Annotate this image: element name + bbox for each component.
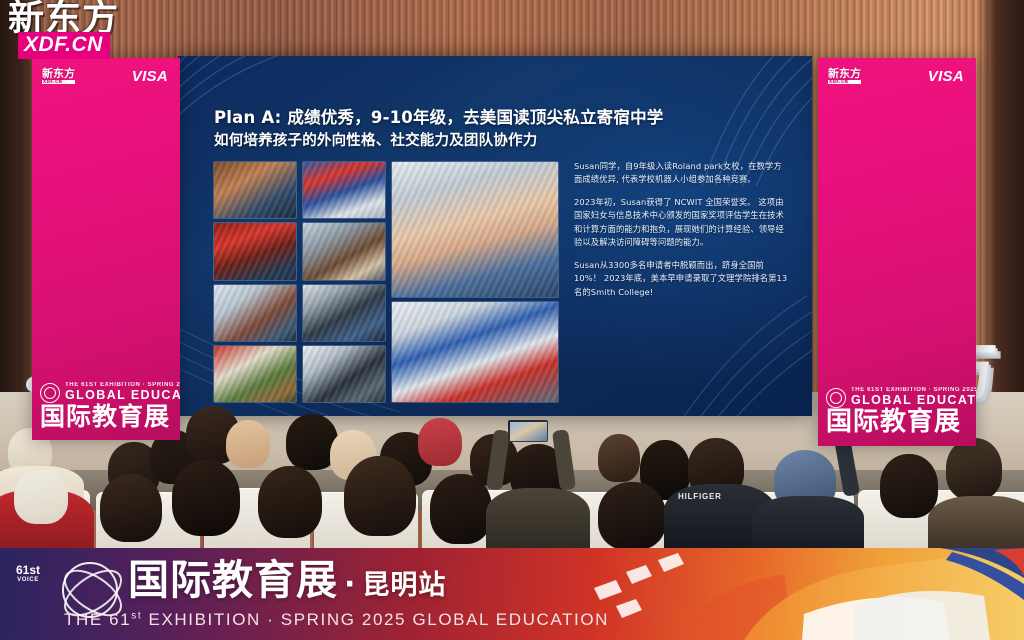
swirl-decoration-bottom-right — [622, 296, 812, 416]
watermark-url: XDF.CN — [18, 32, 110, 59]
collage-photo — [303, 346, 385, 402]
collage-photo — [303, 285, 385, 341]
collage-photo — [303, 162, 385, 218]
audience-head — [100, 474, 162, 542]
slide-title-block: Plan A: 成绩优秀，9-10年级，去美国读顶尖私立寄宿中学 如何培养孩子的… — [214, 106, 794, 153]
exhibition-logo-icon-left — [40, 383, 60, 403]
collage-photo — [214, 162, 296, 218]
collage-photo — [214, 223, 296, 279]
banner-bottom-left: THE 61ST EXHIBITION · SPRING 2025 GLOBAL… — [32, 382, 180, 440]
footer-title-cn: 国际教育展 — [128, 556, 338, 604]
sponsor-visa-left: VISA — [132, 68, 168, 85]
audience-shoulders — [486, 488, 590, 550]
audience-head — [946, 438, 1002, 500]
exhibition-logo-icon-right — [826, 388, 846, 408]
collage-column-1 — [214, 162, 296, 402]
banner-title-row-right: THE 61ST EXHIBITION · SPRING 2025 GLOBAL… — [826, 387, 968, 407]
sponsor-visa-right: VISA — [928, 68, 964, 85]
footer-separator: · — [338, 567, 362, 602]
collage-column-2 — [303, 162, 385, 402]
audience-shoulders — [752, 496, 864, 550]
event-logo-text: 61st VOICE — [0, 564, 56, 583]
exhibition-banner-left: 新东方 XDF.CN VISA THE 61ST EXHIBITION · SP… — [32, 58, 180, 440]
footer-city: 昆明站 — [362, 570, 446, 601]
slide-photo-collage — [214, 162, 562, 402]
footer-subtitle-rest: EXHIBITION · SPRING 2025 GLOBAL EDUCATIO… — [142, 610, 609, 629]
banner-brand-en-left: XDF.CN — [42, 80, 75, 84]
phone-screen — [510, 422, 547, 441]
footer-title-row: 国际教育展·昆明站 — [128, 558, 446, 603]
banner-top-row-right: 新东方 XDF.CN VISA — [818, 58, 976, 85]
audience-head — [258, 466, 322, 538]
audience-head — [418, 418, 462, 466]
collage-photo-medals — [392, 162, 558, 297]
banner-title-row-left: THE 61ST EXHIBITION · SPRING 2025 GLOBAL… — [40, 382, 172, 402]
collage-photo-team — [392, 302, 558, 402]
audience-head — [880, 454, 938, 518]
banner-exhibition-line-right: THE 61ST EXHIBITION · SPRING 2025 — [851, 387, 976, 393]
banner-brand-left: 新东方 XDF.CN — [42, 68, 75, 84]
banner-title-en-left: GLOBAL EDUCATION — [65, 388, 180, 402]
slide-subtitle: 如何培养孩子的外向性格、社交能力及团队协作力 — [214, 131, 794, 153]
presentation-photo: 新东方 XDF.CN 新东方 XDF.CN VISA THE 61ST EXHI… — [0, 0, 1024, 640]
collage-column-3 — [392, 162, 558, 402]
event-logo-year: 61st — [16, 563, 40, 577]
banner-bottom-right: THE 61ST EXHIBITION · SPRING 2025 GLOBAL… — [818, 387, 976, 446]
audience-head — [598, 482, 666, 550]
collage-photo — [214, 285, 296, 341]
banner-title-cn-left: 国际教育展 — [40, 404, 172, 430]
footer-subtitle-sup: st — [131, 610, 142, 621]
footer-subtitle-prefix: THE 61 — [64, 610, 131, 629]
event-footer-banner: 61st VOICE 国际教育展·昆明站 THE 61st EXHIBITION… — [0, 548, 1024, 640]
audience-head — [344, 456, 416, 536]
audience-head — [598, 434, 640, 482]
banner-top-row-left: 新东方 XDF.CN VISA — [32, 58, 180, 85]
slide-title: Plan A: 成绩优秀，9-10年级，去美国读顶尖私立寄宿中学 — [214, 108, 663, 127]
audience-head — [172, 460, 240, 536]
collage-photo — [214, 346, 296, 402]
exhibition-banner-right: 新东方 XDF.CN VISA THE 61ST EXHIBITION · SP… — [818, 58, 976, 446]
audience-head — [430, 474, 492, 544]
collage-photo — [303, 223, 385, 279]
slide-paragraph-2: 2023年初，Susan获得了 NCWIT 全国荣誉奖。 这项由国家妇女与信息技… — [574, 196, 788, 250]
audience-head — [14, 470, 68, 524]
event-logo-sub: VOICE — [0, 577, 56, 583]
led-presentation-screen: Plan A: 成绩优秀，9-10年级，去美国读顶尖私立寄宿中学 如何培养孩子的… — [178, 56, 812, 416]
banner-exhibition-line-left: THE 61ST EXHIBITION · SPRING 2025 — [65, 382, 180, 388]
banner-brand-en-right: XDF.CN — [828, 80, 861, 84]
audience-head — [226, 420, 270, 468]
watermark-brand-cn: 新东方 — [4, 2, 154, 36]
slide-paragraph-3: Susan从3300多名申请者中脱颖而出，跻身全国前10%！ 2023年底，美本… — [574, 259, 788, 299]
banner-brand-right: 新东方 XDF.CN — [828, 68, 861, 84]
slide-paragraph-1: Susan同学，自9年级入读Roland park女校，在数学方面成绩优异, 代… — [574, 160, 788, 187]
channel-watermark: 新东方 XDF.CN — [4, 2, 154, 59]
jacket-brand-label: HILFIGER — [678, 492, 722, 501]
audience-shoulders — [928, 496, 1024, 552]
banner-title-cn-right: 国际教育展 — [826, 409, 968, 436]
footer-subtitle: THE 61st EXHIBITION · SPRING 2025 GLOBAL… — [64, 610, 609, 630]
banner-title-en-right: GLOBAL EDUCATION — [851, 393, 976, 407]
slide-body-text: Susan同学，自9年级入读Roland park女校，在数学方面成绩优异, 代… — [574, 160, 788, 299]
audience-phone — [508, 420, 548, 442]
footer-illustration — [554, 548, 1024, 640]
